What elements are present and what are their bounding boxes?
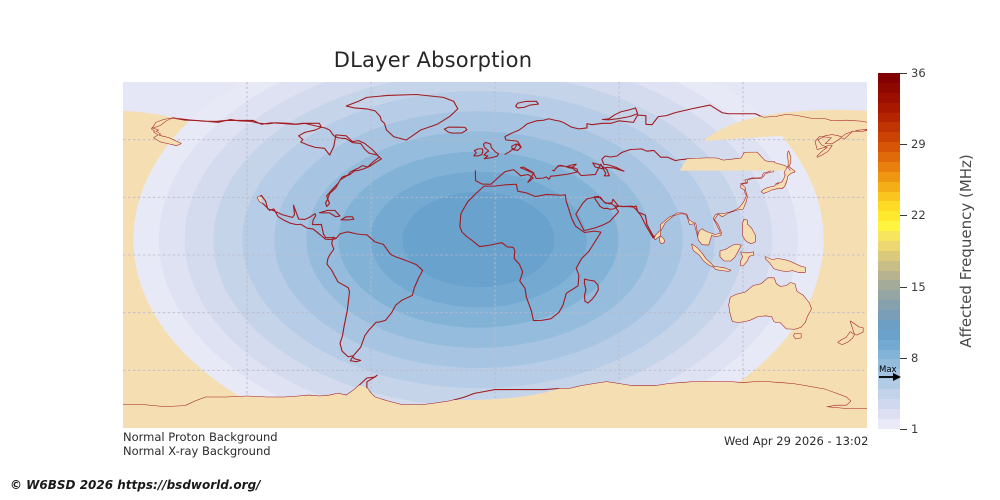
colorbar-segment [878, 172, 900, 182]
colorbar-segment [878, 162, 900, 172]
colorbar-tick-label: 8 [900, 351, 918, 365]
colorbar-segment [878, 192, 900, 202]
colorbar-segment [878, 340, 900, 350]
page-title: DLayer Absorption [0, 48, 866, 72]
colorbar-axis-label: Affected Frequency (MHz) [955, 73, 977, 429]
colorbar-segment [878, 93, 900, 103]
colorbar-segment [878, 73, 900, 83]
colorbar-segment [878, 310, 900, 320]
colorbar-segment [878, 359, 900, 369]
colorbar-segment [878, 132, 900, 142]
map-canvas [123, 82, 867, 428]
colorbar-segment [878, 290, 900, 300]
colorbar-tick-label: 1 [900, 422, 918, 436]
colorbar-tick-label: 36 [900, 66, 926, 80]
colorbar-segment [878, 231, 900, 241]
colorbar-segment [878, 320, 900, 330]
colorbar-ticks: 3629221581 [900, 73, 940, 429]
colorbar-segment [878, 300, 900, 310]
colorbar-tick-label: 29 [900, 137, 926, 151]
colorbar-segment [878, 201, 900, 211]
colorbar-segment [878, 211, 900, 221]
xray-background-status: Normal X-ray Background [123, 444, 271, 458]
timestamp: Wed Apr 29 2026 - 13:02 [724, 434, 868, 448]
colorbar-segment [878, 271, 900, 281]
colorbar-segment [878, 182, 900, 192]
colorbar-tick-label: 15 [900, 280, 926, 294]
colorbar-tick-label: 22 [900, 208, 926, 222]
colorbar-segment [878, 122, 900, 132]
colorbar-segment [878, 103, 900, 113]
colorbar-segment [878, 350, 900, 360]
colorbar-segment [878, 83, 900, 93]
proton-background-status: Normal Proton Background [123, 430, 278, 444]
colorbar-segment [878, 399, 900, 409]
absorption-band [402, 192, 554, 287]
colorbar-segment [878, 409, 900, 419]
copyright-notice: © W6BSD 2026 https://bsdworld.org/ [10, 478, 261, 492]
colorbar-segment [878, 280, 900, 290]
colorbar-segment [878, 389, 900, 399]
colorbar-segment [878, 251, 900, 261]
world-map [123, 82, 867, 428]
colorbar-segment [878, 221, 900, 231]
colorbar-segment [878, 369, 900, 379]
colorbar[interactable] [878, 73, 900, 429]
colorbar-segment [878, 241, 900, 251]
colorbar-segment [878, 142, 900, 152]
colorbar-segment [878, 419, 900, 429]
colorbar-segment [878, 261, 900, 271]
colorbar-segment [878, 330, 900, 340]
colorbar-segment [878, 113, 900, 123]
colorbar-segment [878, 152, 900, 162]
colorbar-segment [878, 379, 900, 389]
